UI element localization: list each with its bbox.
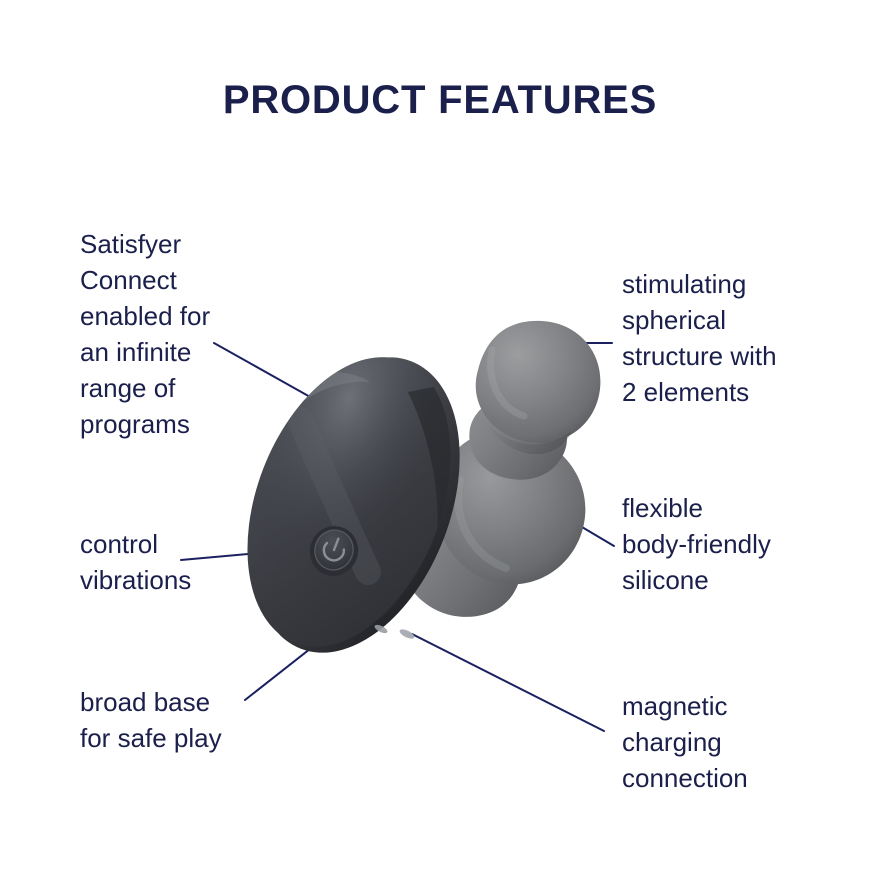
callout-flexible-silicone: flexible body-friendly silicone — [622, 490, 872, 598]
magnetic-charging-contacts — [373, 623, 415, 640]
callout-satisfyer-connect: Satisfyer Connect enabled for an infinit… — [80, 226, 330, 442]
callout-magnetic-charging: magnetic charging connection — [622, 688, 872, 796]
product-features-infographic: PRODUCT FEATURES — [0, 0, 880, 880]
callout-spherical-structure: stimulating spherical structure with 2 e… — [622, 266, 862, 410]
callout-control-vibrations: control vibrations — [80, 526, 320, 598]
leader-line-magnetic-charging — [412, 634, 604, 731]
callout-broad-base: broad base for safe play — [80, 684, 340, 756]
